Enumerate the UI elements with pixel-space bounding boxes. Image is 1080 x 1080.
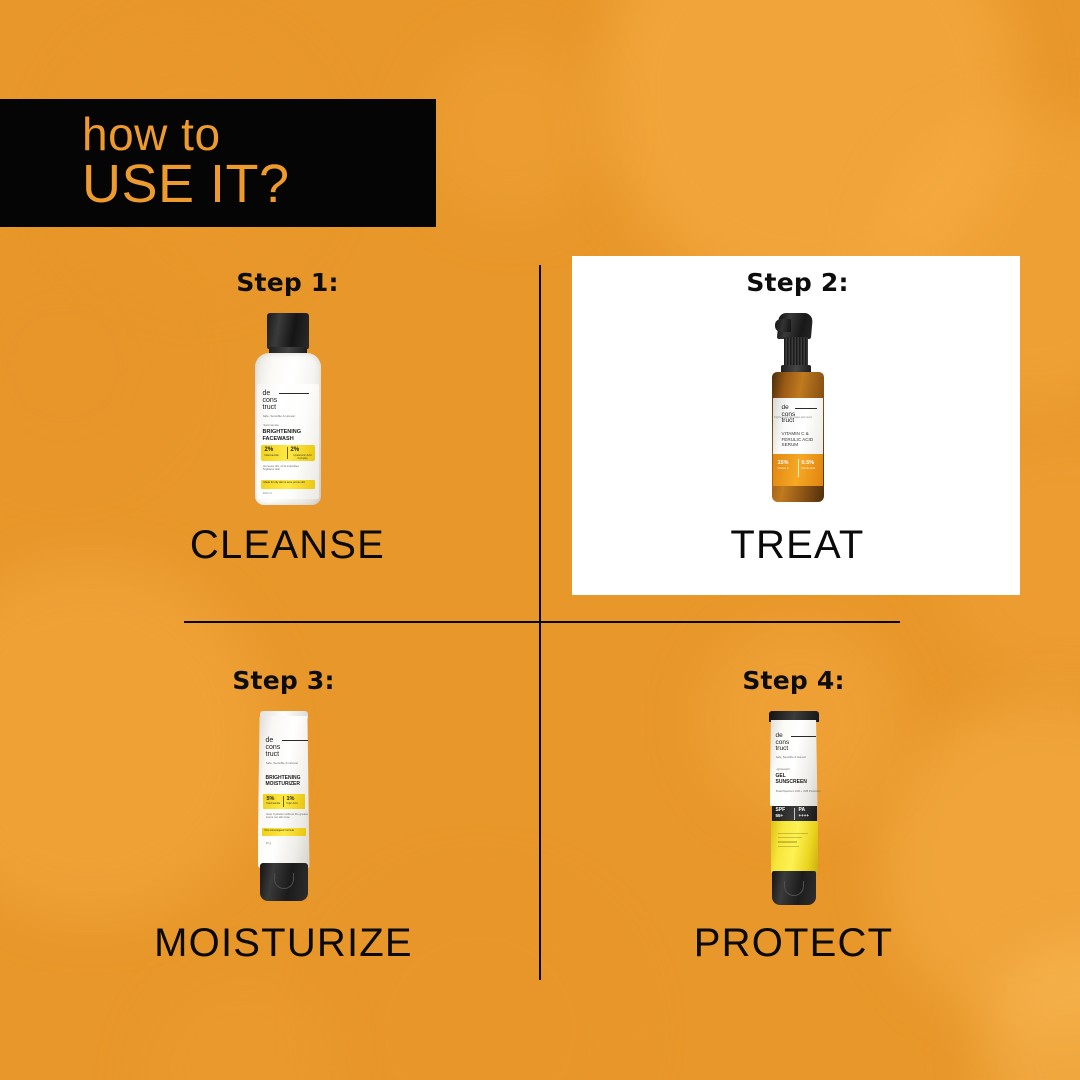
pct-right-sub: Hyaluronic Acid Complex	[291, 454, 315, 460]
step-1-product-stage: de cons truct Safe, Sensible & Honest Ni…	[140, 313, 435, 513]
footer-band: Made for oily skin & acne prone skin	[261, 480, 315, 489]
quadrant-divider-horizontal	[184, 621, 900, 623]
bottle-cap	[267, 313, 309, 349]
pct-left-sub: Vitamin C	[778, 467, 789, 470]
pct-right-sub: Kojic Acid	[287, 802, 298, 805]
spf-number: 55+	[776, 813, 784, 818]
step-1-action: CLEANSE	[140, 523, 435, 568]
net-volume: 50 g	[266, 842, 272, 846]
pct-left: 2%	[265, 447, 274, 453]
brand-tagline: Safe, Sensible & Honest	[266, 762, 299, 766]
cleanser-bottle-icon: de cons truct Safe, Sensible & Honest Ni…	[248, 313, 328, 509]
tube-lower-textlines	[778, 833, 808, 855]
bottle-label: de cons truct Safe, Sensible & Honest Ni…	[257, 384, 319, 499]
step-4-block[interactable]: Step 4: de cons truct Safe, Sensible & H…	[646, 666, 941, 966]
product-name-line2: SUNSCREEN	[776, 779, 807, 785]
step-3-label: Step 3:	[136, 666, 431, 695]
step-2-block[interactable]: Step 2: de cons truct Brightens dull ski…	[650, 268, 945, 568]
step-4-product-stage: de cons truct Safe, Sensible & Honest Li…	[646, 711, 941, 911]
step-1-block[interactable]: Step 1: de cons truct Safe, Sensible & H…	[140, 268, 435, 568]
step-3-block[interactable]: Step 3: de cons truct Safe, Sensible & H…	[136, 666, 431, 966]
footer-band-text: Non-comedogenic formula	[265, 829, 294, 832]
step-4-label: Step 4:	[646, 666, 941, 695]
pct-right: 2%	[291, 447, 300, 453]
benefit-2: Brightens skin	[263, 467, 281, 471]
ingredient-band: 15% Vitamin C 0.5% Ferulic Acid	[773, 454, 823, 486]
brand-tagline: Safe, Sensible & Honest	[776, 756, 806, 759]
brand-line-1: de	[266, 737, 281, 744]
band-divider	[283, 796, 284, 807]
step-3-product-stage: de cons truct Safe, Sensible & Honest BR…	[136, 711, 431, 911]
step-1-label: Step 1:	[140, 268, 435, 297]
bottle-label: de cons truct Brightens dull skin Fades …	[773, 398, 823, 486]
spf-claim: Broad Spectrum UVA + UVB Protection	[776, 790, 821, 793]
product-name-line2: MOISTURIZER	[266, 781, 300, 787]
brand-line-3: truct	[776, 746, 790, 753]
pump-nozzle	[775, 319, 791, 332]
badge-divider	[794, 808, 795, 820]
header-title-line2: USE IT?	[82, 153, 290, 215]
moisturizer-tube-icon: de cons truct Safe, Sensible & Honest BR…	[246, 711, 322, 907]
benefit-bullets: Deep hydration without the grease Evens …	[266, 813, 309, 820]
benefit-bullets: Removes dirt, oil & impurities Brightens…	[263, 465, 299, 472]
pa-value: ++++	[799, 813, 810, 818]
pct-left-sub: Niacinamide	[265, 454, 279, 457]
brand-rule	[795, 408, 817, 409]
header-banner: how to USE IT?	[0, 99, 436, 227]
brand-line-1: de	[263, 390, 278, 397]
step-2-product-stage: de cons truct Brightens dull skin Fades …	[650, 313, 945, 513]
pct-right: 0.5%	[802, 460, 815, 466]
footer-band-text: Made for oily skin & acne prone skin	[264, 481, 306, 484]
sunscreen-tube-icon: de cons truct Safe, Sensible & Honest Li…	[756, 711, 832, 907]
ingredient-band: 2% Niacinamide 2% Hyaluronic Acid Comple…	[261, 445, 315, 461]
brand-rule	[791, 736, 816, 737]
pct-left: 15%	[778, 460, 789, 466]
product-name-line2: FERULIC ACID	[782, 437, 814, 442]
serum-pump-bottle-icon: de cons truct Brightens dull skin Fades …	[762, 313, 834, 505]
product-name-line2: FACEWASH	[263, 436, 294, 442]
product-name: VITAMIN C & FERULIC ACID SERUM	[782, 431, 814, 448]
step-2-label: Step 2:	[650, 268, 945, 297]
brand-tagline: Safe, Sensible & Honest	[263, 415, 296, 419]
pct-right-sub: Ferulic Acid	[802, 467, 815, 470]
band-divider	[287, 447, 288, 459]
brand-line-3: truct	[263, 404, 278, 411]
brand-logo: de cons truct	[776, 733, 790, 753]
brand-line-3: truct	[266, 751, 281, 758]
brand-logo: de cons truct	[263, 390, 278, 411]
brand-logo: de cons truct	[782, 405, 796, 425]
footer-band: Non-comedogenic formula	[262, 828, 306, 836]
pct-left-sub: Niacinamide	[267, 802, 281, 805]
ingredient-kicker: Niacinamide	[263, 424, 280, 428]
band-divider	[798, 459, 799, 477]
bokeh-circle	[150, 980, 340, 1080]
product-name: BRIGHTENING MOISTURIZER	[266, 775, 301, 787]
product-name-line3: SERUM	[782, 442, 799, 447]
product-name: GEL SUNSCREEN	[776, 773, 807, 785]
brand-rule	[282, 740, 308, 741]
product-name-line1: VITAMIN C &	[782, 431, 809, 436]
pump-collar-ribbed	[784, 337, 808, 367]
brand-logo: de cons truct	[266, 737, 281, 758]
step-4-action: PROTECT	[646, 921, 941, 966]
spf-badge: SPF 55+ PA ++++	[772, 806, 817, 822]
brand-line-2: cons	[266, 744, 281, 751]
ingredient-kicker: Lightweight	[776, 768, 790, 771]
net-volume: 100 ml	[263, 492, 272, 496]
step-2-action: TREAT	[650, 523, 945, 568]
bokeh-circle	[600, 0, 1020, 300]
bokeh-circle	[420, 40, 600, 220]
ingredient-band: 5% Niacinamide 1% Kojic Acid	[263, 794, 305, 809]
brand-rule	[279, 393, 309, 394]
product-name-line1: BRIGHTENING	[263, 429, 302, 435]
step-3-action: MOISTURIZE	[136, 921, 431, 966]
bokeh-circle	[980, 940, 1080, 1080]
brand-line-2: cons	[263, 397, 278, 404]
side-note: Brightens dull skin Fades dark spots	[774, 416, 812, 420]
benefit-2: Evens out skin tone	[266, 815, 290, 819]
product-name: BRIGHTENING FACEWASH	[263, 429, 302, 442]
